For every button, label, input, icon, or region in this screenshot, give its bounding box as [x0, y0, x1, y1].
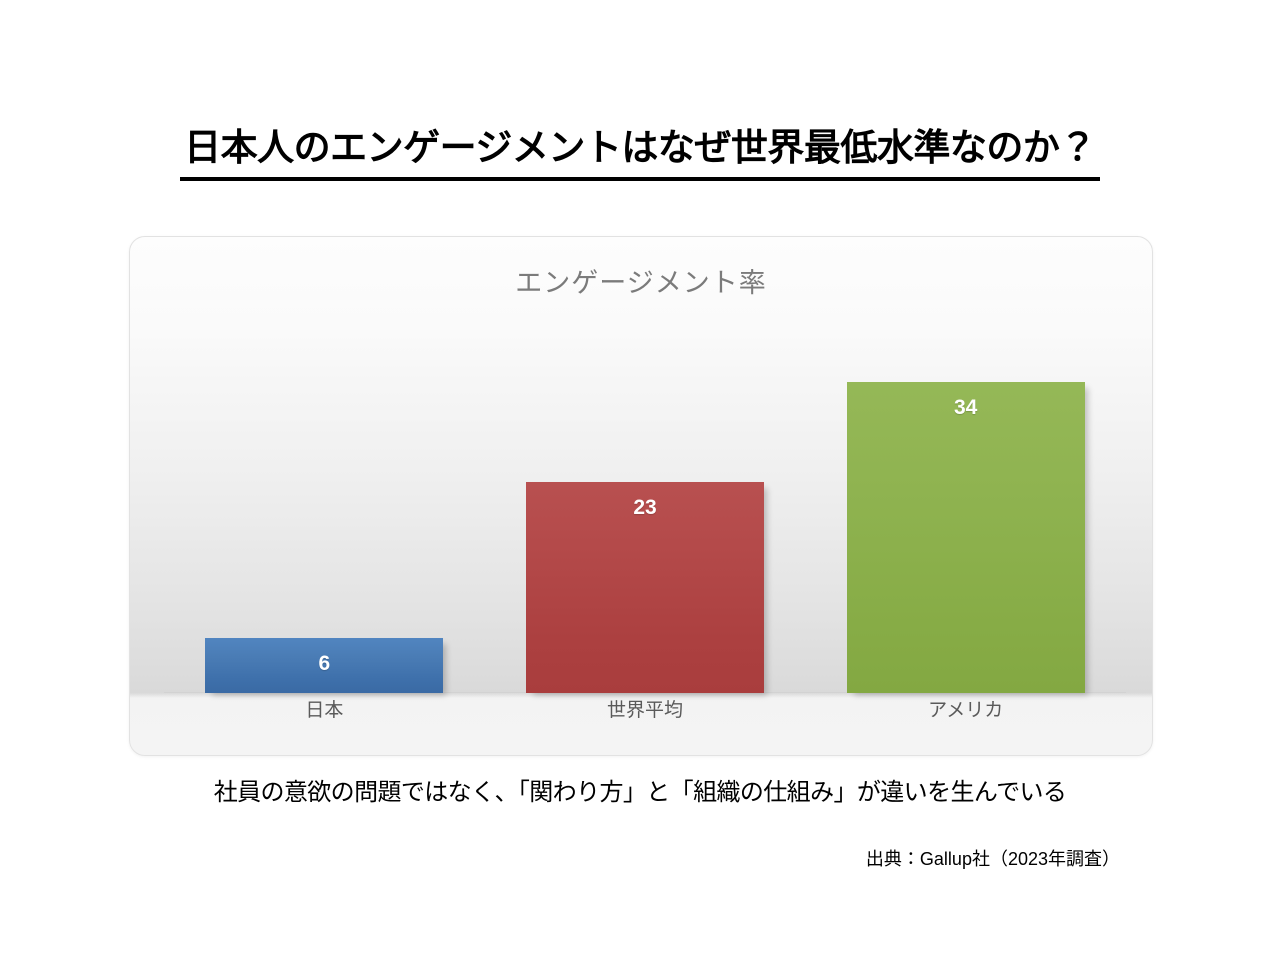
page-title: 日本人のエンゲージメントはなぜ世界最低水準なのか？	[0, 126, 1280, 181]
bar-slot-world-average: 23	[485, 237, 806, 693]
bar-world-average[interactable]: 23	[526, 482, 764, 693]
category-label-usa: アメリカ	[805, 695, 1126, 722]
bar-value-world-average: 23	[526, 496, 764, 520]
chart-plot-area: 6 23 34	[130, 237, 1152, 693]
source-note: 出典：Gallup社（2023年調査）	[866, 845, 1120, 871]
bar-usa[interactable]: 34	[847, 382, 1085, 693]
chart-panel: エンゲージメント率 6 23 34 日本 世界平均 アメリカ	[129, 236, 1153, 756]
page-title-text: 日本人のエンゲージメントはなぜ世界最低水準なのか？	[180, 126, 1100, 181]
bar-slot-japan: 6	[164, 237, 485, 693]
bar-slot-usa: 34	[805, 237, 1126, 693]
category-label-world-average: 世界平均	[485, 695, 806, 722]
bar-value-japan: 6	[205, 652, 443, 676]
category-label-japan: 日本	[164, 695, 485, 722]
bar-series: 6 23 34	[164, 237, 1126, 693]
category-axis-labels: 日本 世界平均 アメリカ	[164, 695, 1126, 722]
chart-caption: 社員の意欲の問題ではなく、「関わり方」と「組織の仕組み」が違いを生んでいる	[0, 772, 1280, 807]
bar-japan[interactable]: 6	[205, 638, 443, 693]
bar-value-usa: 34	[847, 396, 1085, 420]
